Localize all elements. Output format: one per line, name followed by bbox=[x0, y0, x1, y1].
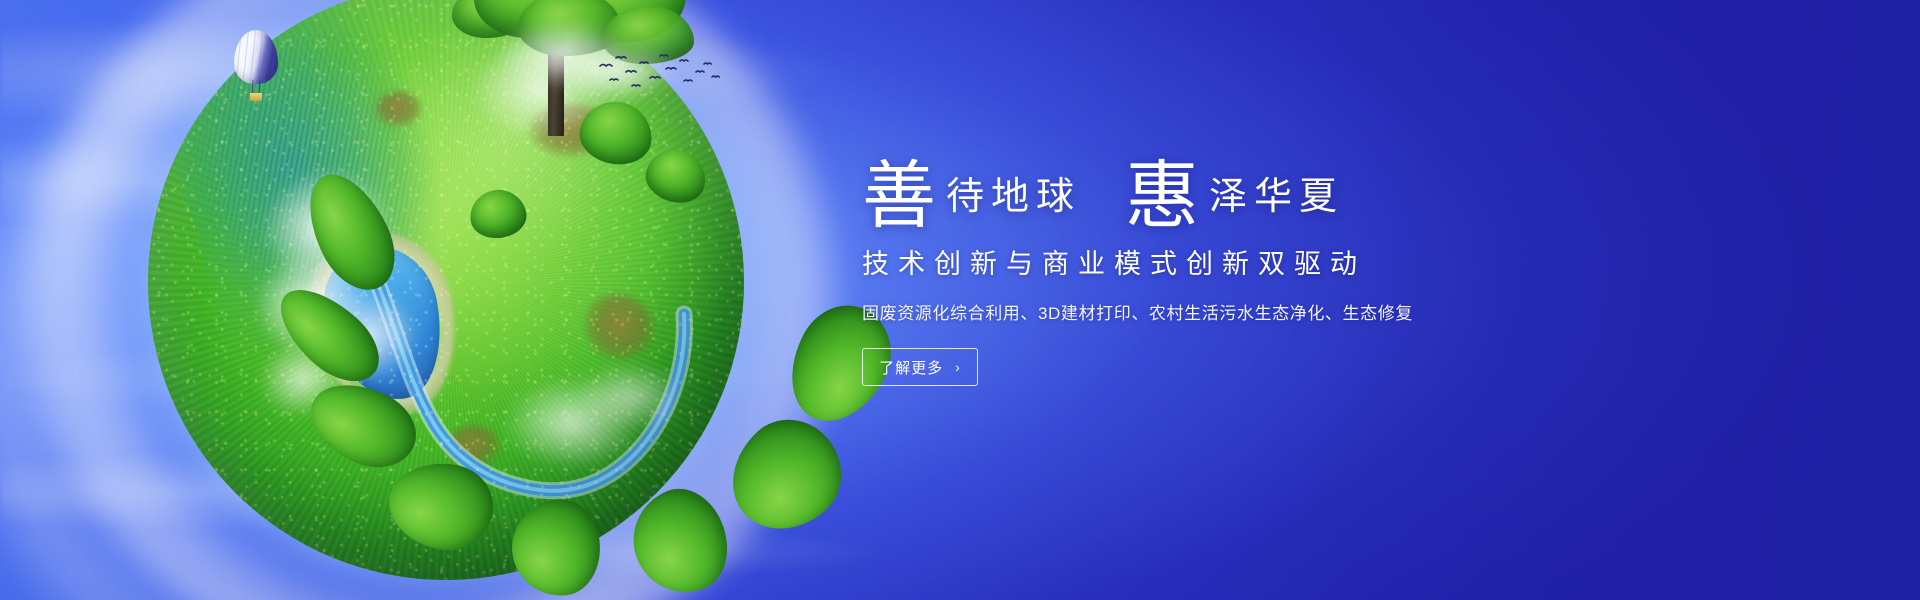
description: 固废资源化综合利用、3D建材打印、农村生活污水生态净化、生态修复 bbox=[862, 299, 1562, 324]
headline-rest-glyphs: 泽华夏 bbox=[1209, 177, 1344, 215]
learn-more-button[interactable]: 了解更多 › bbox=[862, 348, 978, 386]
headline: 善 待地球 惠 泽华夏 bbox=[862, 132, 1562, 224]
headline-rest-glyphs: 待地球 bbox=[946, 177, 1081, 215]
learn-more-label: 了解更多 bbox=[879, 357, 943, 378]
headline-lead-glyph: 善 bbox=[862, 162, 936, 230]
hero-banner: 善 待地球 惠 泽华夏 技术创新与商业模式创新双驱动 固废资源化综合利用、3D建… bbox=[0, 0, 1920, 600]
headline-phrase-1: 善 待地球 bbox=[862, 156, 1081, 224]
subtitle: 技术创新与商业模式创新双驱动 bbox=[862, 242, 1562, 281]
banner-copy: 善 待地球 惠 泽华夏 技术创新与商业模式创新双驱动 固废资源化综合利用、3D建… bbox=[862, 132, 1562, 386]
bird-flock-icon bbox=[596, 52, 726, 94]
chevron-right-icon: › bbox=[955, 360, 961, 374]
headline-phrase-2: 惠 泽华夏 bbox=[1125, 156, 1344, 224]
balloon-basket bbox=[250, 93, 262, 101]
balloon-lines bbox=[252, 80, 261, 94]
balloon-ribs bbox=[234, 30, 278, 84]
headline-lead-glyph: 惠 bbox=[1125, 162, 1199, 230]
hot-air-balloon bbox=[234, 30, 278, 104]
